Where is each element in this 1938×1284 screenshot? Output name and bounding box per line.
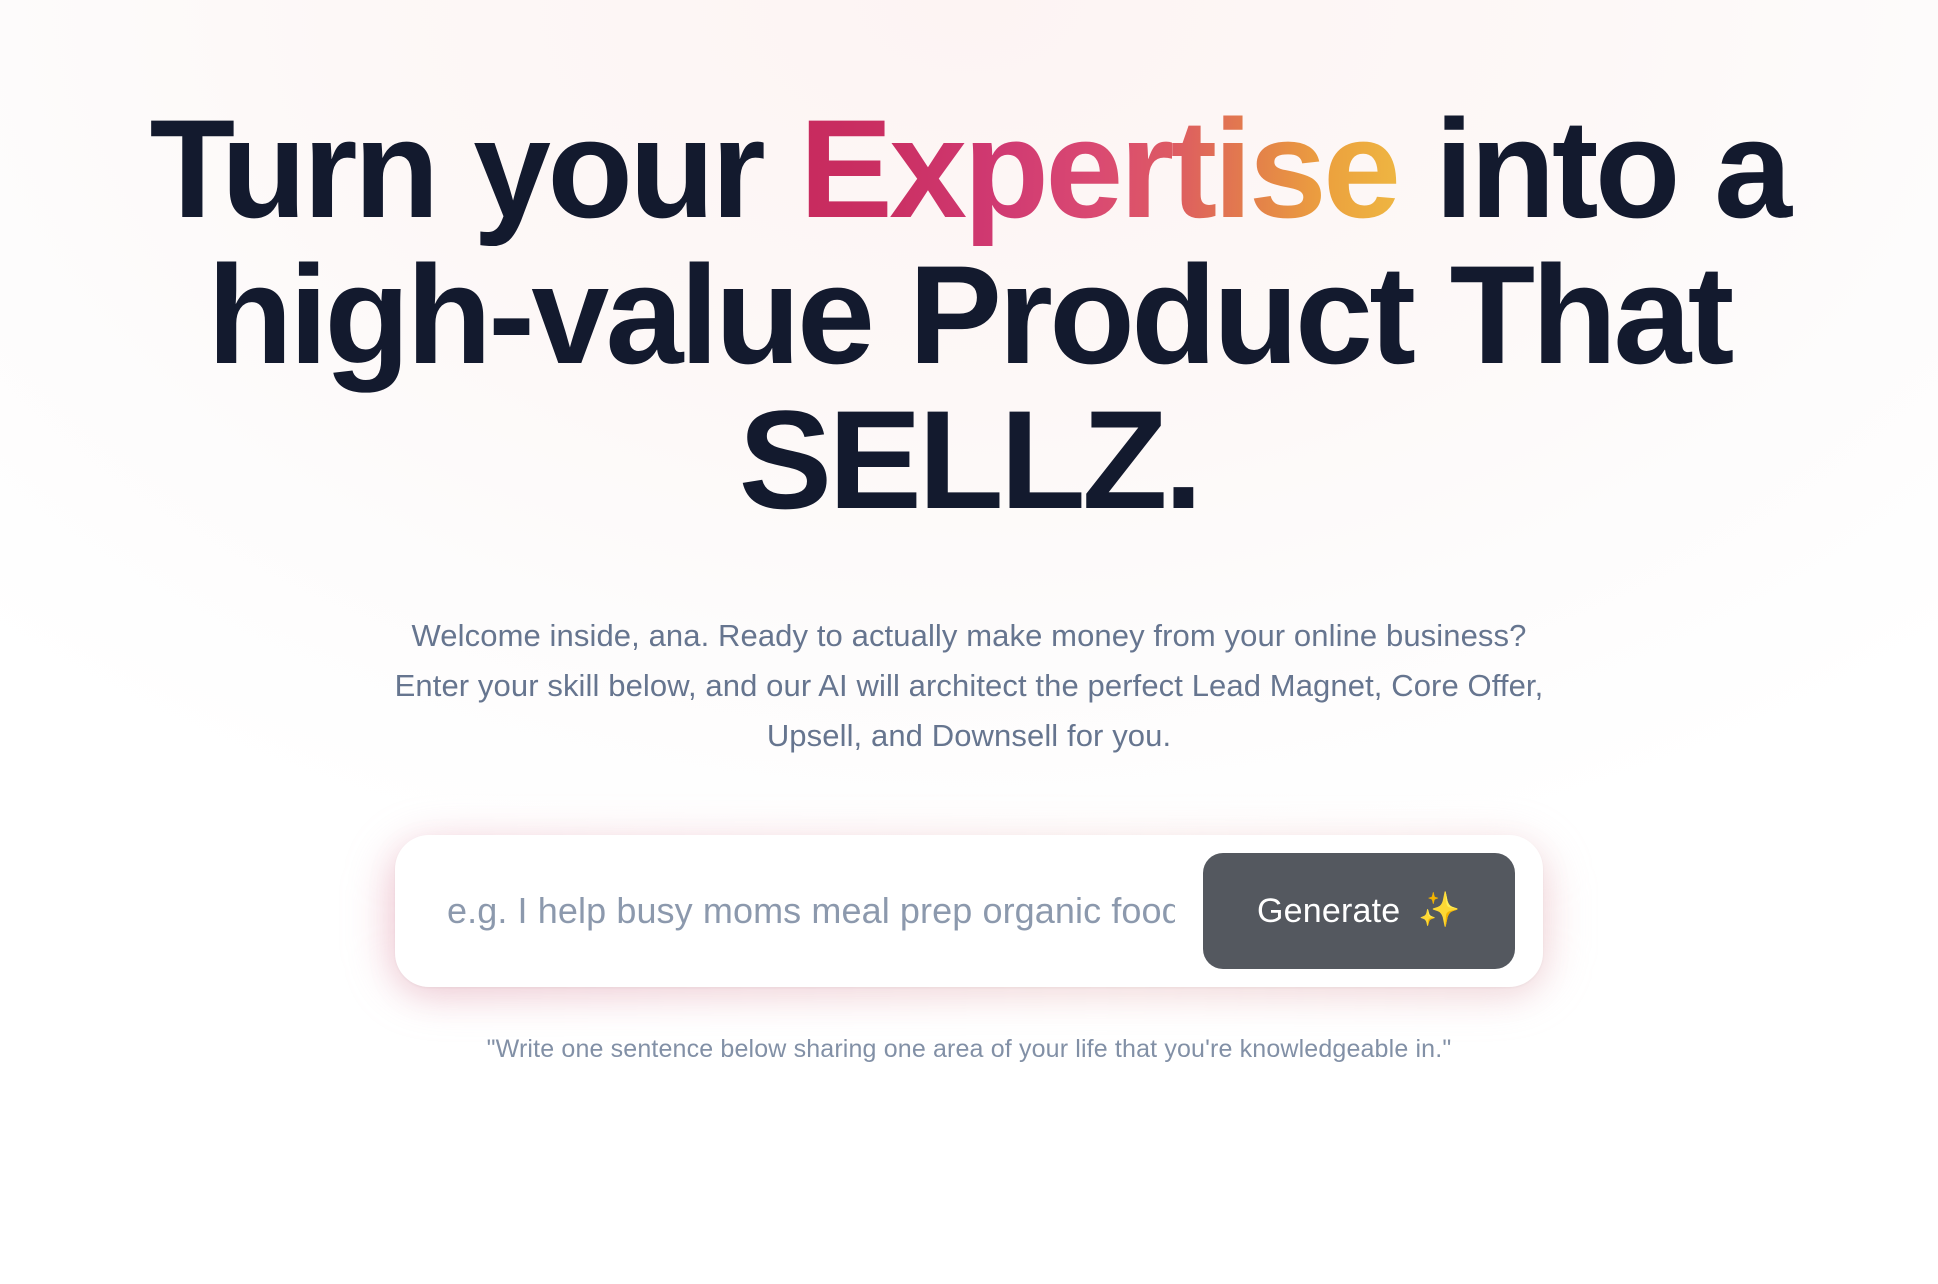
skill-input[interactable] [395,835,1203,987]
headline-line-2: high-value Product That [207,236,1730,393]
page-title: Turn your Expertise into a high-value Pr… [69,96,1869,533]
headline-line-3: SELLZ. [739,381,1200,538]
headline-gradient-word: Expertise [799,90,1397,247]
headline-line-1: Turn your Expertise into a [150,90,1789,247]
subheading-line-1: Welcome inside, ana. Ready to actually m… [412,618,1527,653]
prompt-bar[interactable]: Generate ✨ [395,835,1543,987]
prompt-bar-wrapper: Generate ✨ [389,835,1549,987]
headline-text-before: Turn your [150,90,800,247]
subheading-line-2: Enter your skill below, and our AI will … [395,668,1544,703]
subheading-line-3: Upsell, and Downsell for you. [767,718,1171,753]
generate-button[interactable]: Generate ✨ [1203,853,1515,969]
sparkles-icon: ✨ [1418,893,1461,927]
generate-button-label: Generate [1257,892,1400,931]
hero-section: Turn your Expertise into a high-value Pr… [0,0,1938,1284]
hero-subheading: Welcome inside, ana. Ready to actually m… [269,611,1669,762]
headline-text-after: into a [1397,90,1788,247]
helper-note: "Write one sentence below sharing one ar… [487,1035,1452,1064]
